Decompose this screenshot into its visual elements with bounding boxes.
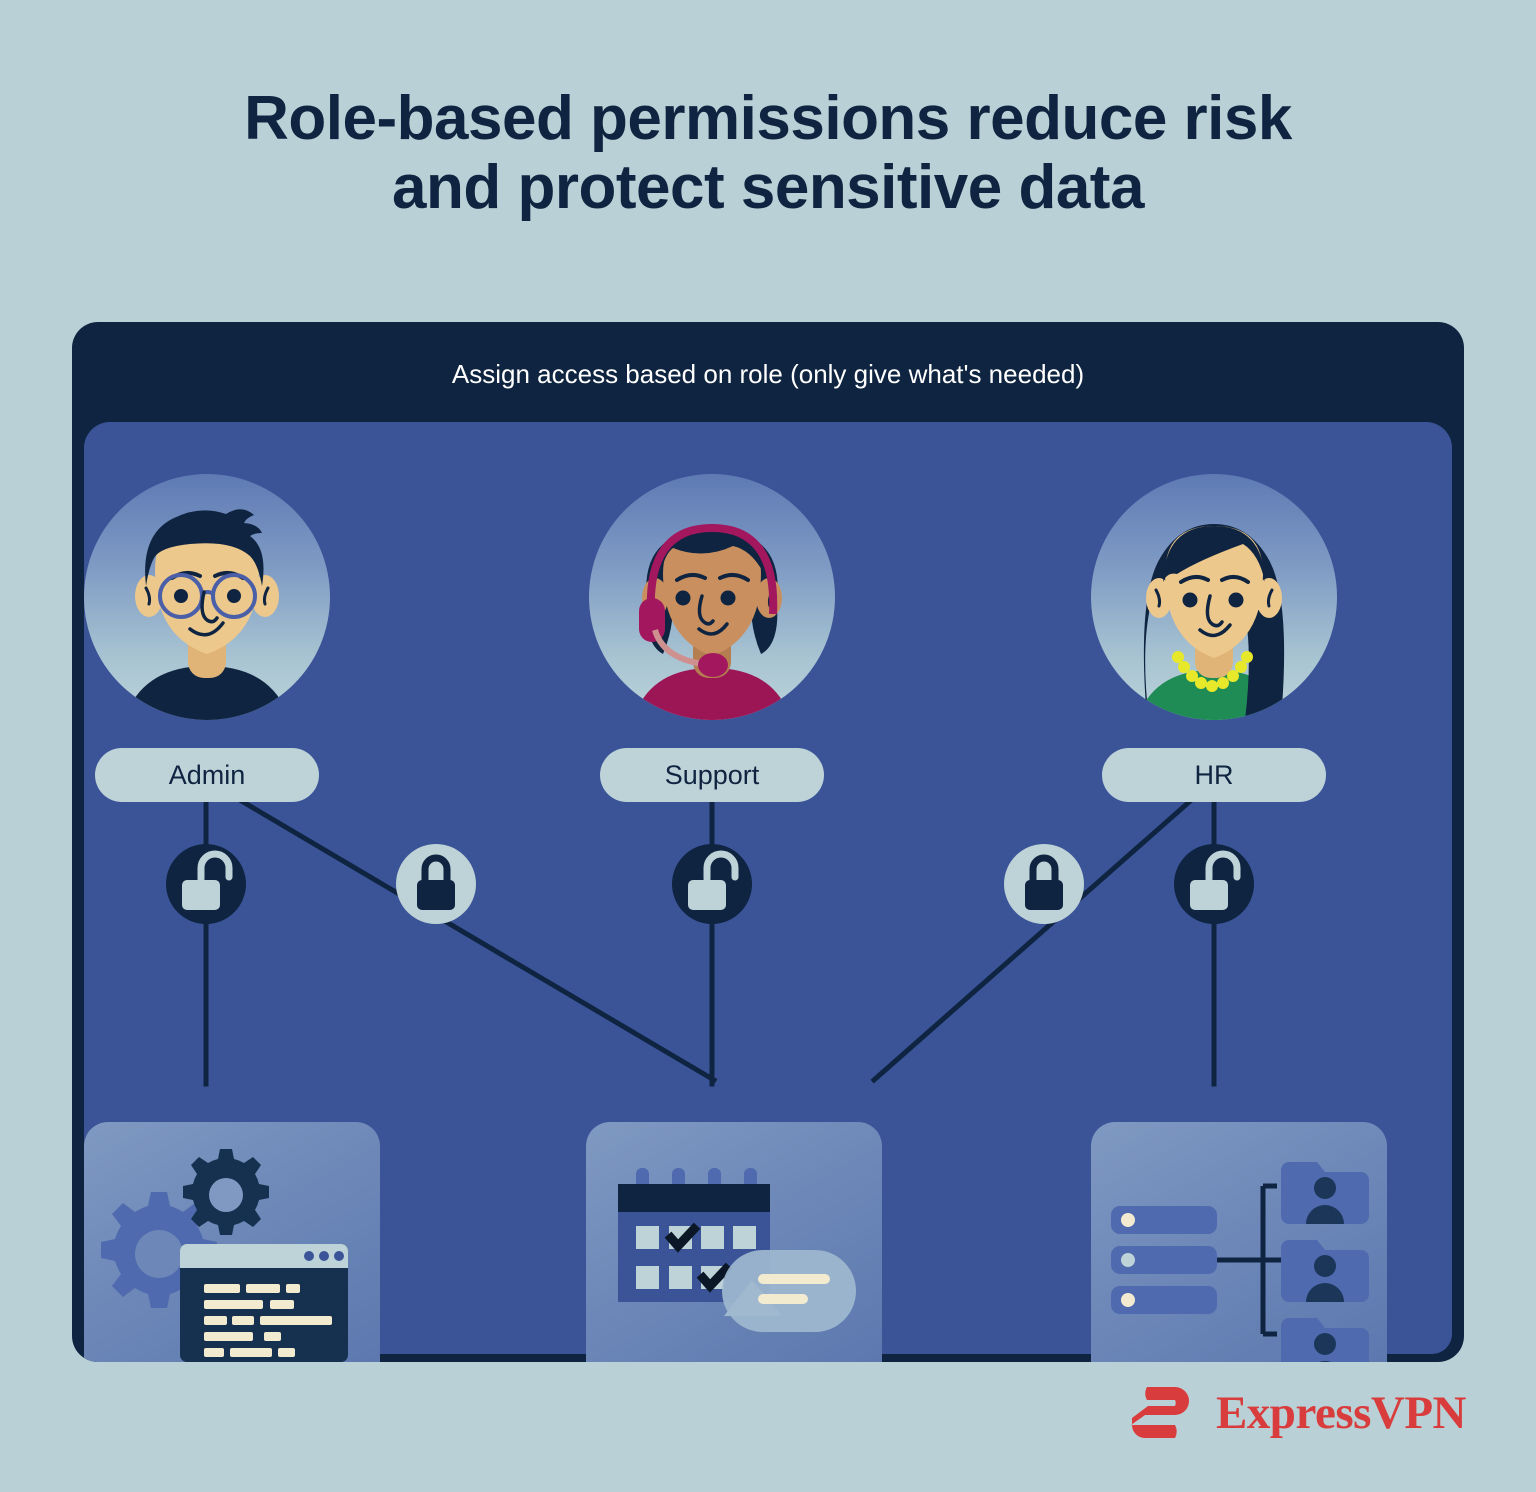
support-mic-tip [698, 653, 728, 677]
resource-card-tickets[interactable] [586, 1122, 882, 1362]
lock-hr-to-records[interactable] [1174, 844, 1254, 924]
bracket-connector [1217, 1186, 1281, 1334]
calendar-header [618, 1184, 770, 1212]
code-window-icon [180, 1244, 348, 1362]
lock-admin-to-systems[interactable] [166, 844, 246, 924]
panel-header: Assign access based on role (only give w… [72, 322, 1464, 426]
support-earcup [639, 598, 665, 642]
role-label-admin[interactable]: Admin [95, 748, 319, 802]
wire-admin-tickets [206, 780, 714, 1080]
expressvpn-e-logo [1128, 1383, 1202, 1443]
page-title-line-1: Role-based permissions reduce risk [0, 84, 1536, 153]
role-label-support[interactable]: Support [600, 748, 824, 802]
panel-header-text: Assign access based on role (only give w… [452, 359, 1084, 390]
lock-hr-to-tickets[interactable] [1004, 844, 1084, 924]
expressvpn-logo[interactable]: ExpressVPN [1128, 1383, 1466, 1443]
role-label-hr[interactable]: HR [1102, 748, 1326, 802]
calendar-chat-icon [586, 1122, 882, 1362]
expressvpn-wordmark: ExpressVPN [1216, 1386, 1466, 1440]
panel-body: Admin [84, 422, 1452, 1354]
admin-avatar [84, 474, 330, 720]
wire-hr-tickets [874, 780, 1214, 1080]
role-node-admin[interactable]: Admin [84, 474, 330, 802]
page-title-line-2: and protect sensitive data [0, 153, 1536, 222]
chat-bubble-icon [722, 1250, 856, 1332]
server-stack-icon [1111, 1206, 1217, 1314]
gears-code-window-icon [84, 1122, 380, 1362]
resource-card-records[interactable] [1091, 1122, 1387, 1362]
role-node-support[interactable]: Support [589, 474, 835, 802]
server-people-folders-icon [1091, 1122, 1387, 1362]
person-folder-icons [1281, 1162, 1369, 1362]
page-title: Role-based permissions reduce risk and p… [0, 84, 1536, 223]
support-avatar [589, 474, 835, 720]
lock-admin-to-tickets[interactable] [396, 844, 476, 924]
diagram-panel: Assign access based on role (only give w… [72, 322, 1464, 1362]
resource-card-systems[interactable] [84, 1122, 380, 1362]
role-node-hr[interactable]: HR [1091, 474, 1337, 802]
lock-support-to-tickets[interactable] [672, 844, 752, 924]
hr-avatar [1091, 474, 1337, 720]
gear-small-icon [183, 1149, 269, 1235]
